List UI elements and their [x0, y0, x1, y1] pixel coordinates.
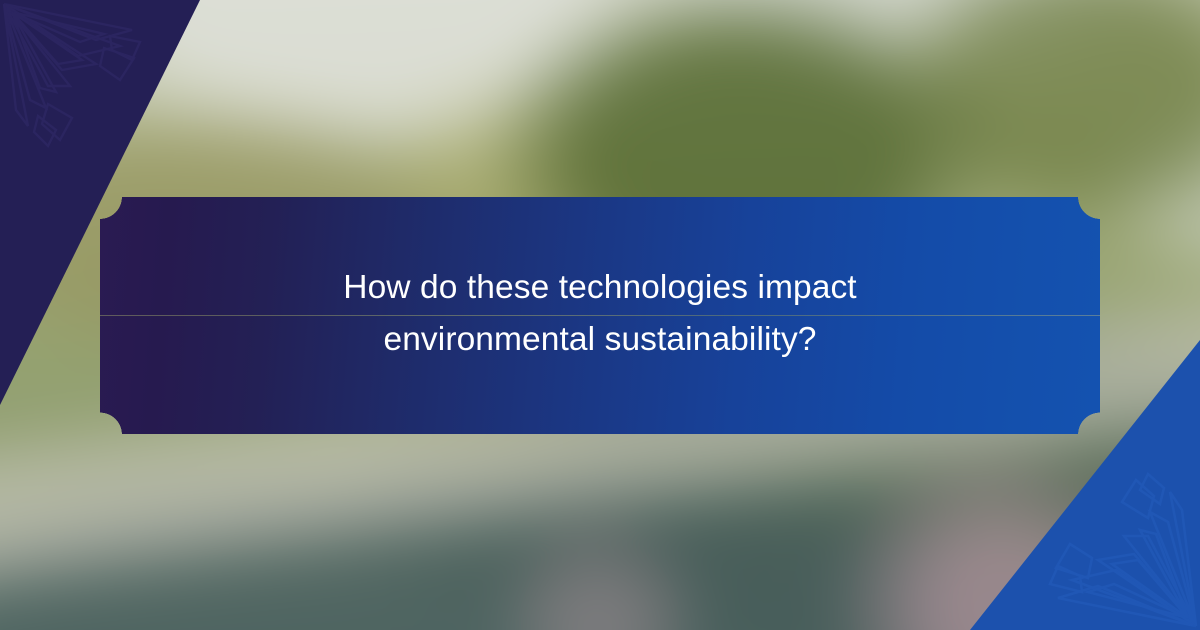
quote-text: How do these technologies impact environ…	[343, 262, 856, 370]
quote-line-1: How do these technologies impact	[343, 262, 856, 314]
quote-line-2: environmental sustainability?	[343, 314, 856, 366]
quote-card: How do these technologies impact environ…	[100, 197, 1100, 434]
slide-canvas: How do these technologies impact environ…	[0, 0, 1200, 630]
